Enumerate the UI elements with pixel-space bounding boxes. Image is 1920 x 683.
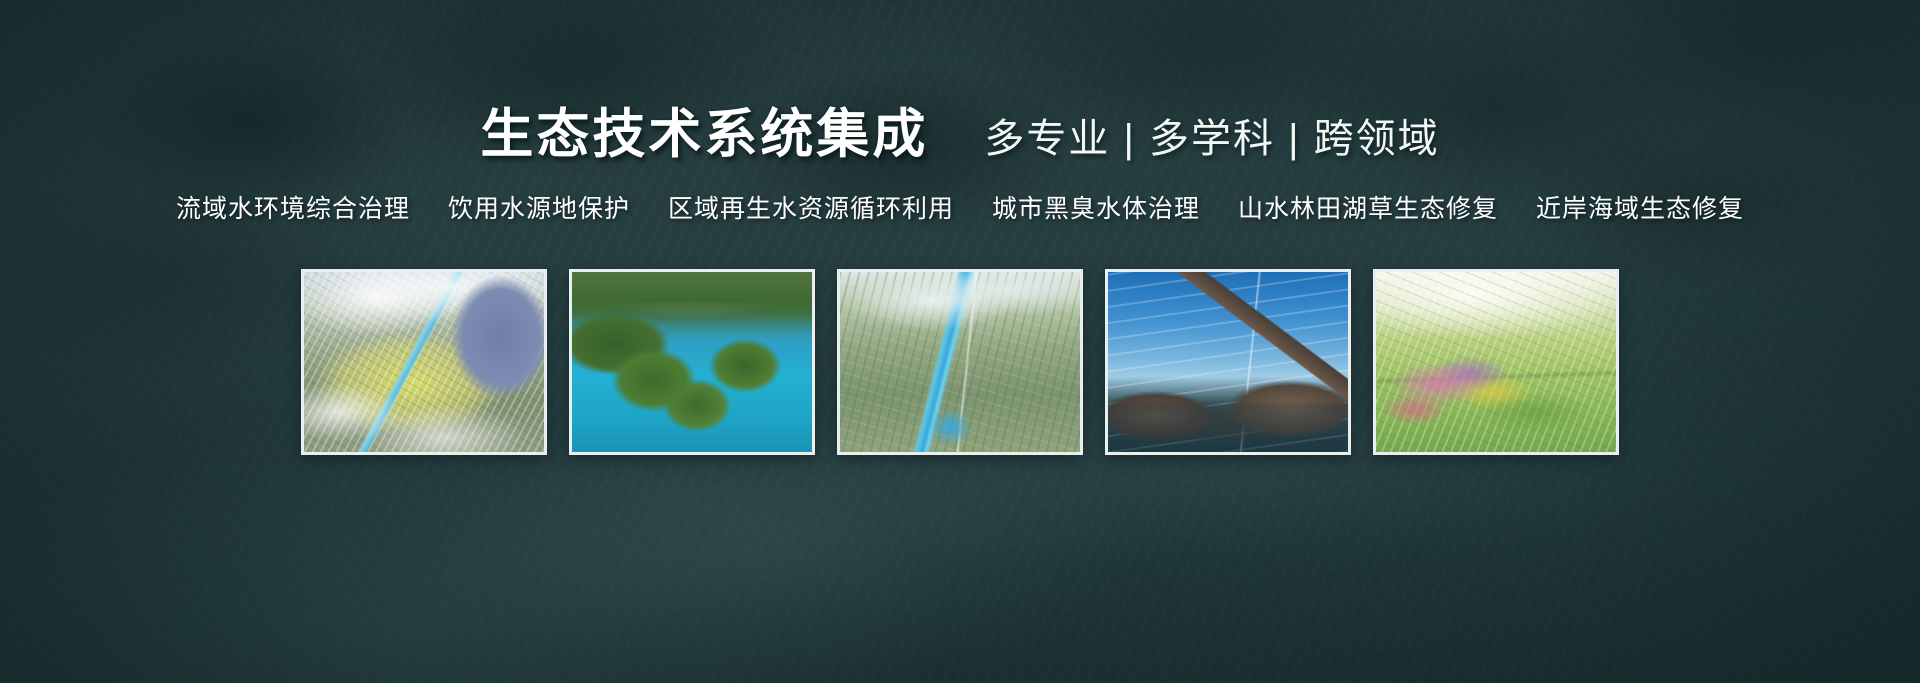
thumbnail-item[interactable] xyxy=(1105,269,1351,455)
headline-tagline: 多专业 | 多学科 | 跨领域 xyxy=(984,119,1439,159)
colorful-farmland-fields-photo xyxy=(1376,272,1616,452)
headline-row: 生态技术系统集成 多专业 | 多学科 | 跨领域 xyxy=(0,108,1920,161)
aerial-delta-wetland-photo xyxy=(304,272,544,452)
turquoise-lake-islands-photo xyxy=(572,272,812,452)
thumbnail-item[interactable] xyxy=(569,269,815,455)
keyword-item[interactable]: 区域再生水资源循环利用 xyxy=(668,189,954,225)
thumbnail-item[interactable] xyxy=(837,269,1083,455)
keyword-item[interactable]: 饮用水源地保护 xyxy=(448,189,630,225)
keyword-item[interactable]: 城市黑臭水体治理 xyxy=(992,189,1200,225)
keyword-list: 流域水环境综合治理 饮用水源地保护 区域再生水资源循环利用 城市黑臭水体治理 山… xyxy=(0,189,1920,225)
keyword-item[interactable]: 山水林田湖草生态修复 xyxy=(1238,189,1498,225)
mountain-lake-reflection-photo xyxy=(1108,272,1348,452)
thumbnail-item[interactable] xyxy=(301,269,547,455)
page-title: 生态技术系统集成 xyxy=(480,108,928,161)
winding-river-farmland-photo xyxy=(840,272,1080,452)
banner-content: 生态技术系统集成 多专业 | 多学科 | 跨领域 流域水环境综合治理 饮用水源地… xyxy=(0,0,1920,683)
thumbnail-gallery xyxy=(0,269,1920,455)
keyword-item[interactable]: 近岸海域生态修复 xyxy=(1536,189,1744,225)
thumbnail-item[interactable] xyxy=(1373,269,1619,455)
keyword-item[interactable]: 流域水环境综合治理 xyxy=(176,189,410,225)
hero-banner: 生态技术系统集成 多专业 | 多学科 | 跨领域 流域水环境综合治理 饮用水源地… xyxy=(0,0,1920,683)
